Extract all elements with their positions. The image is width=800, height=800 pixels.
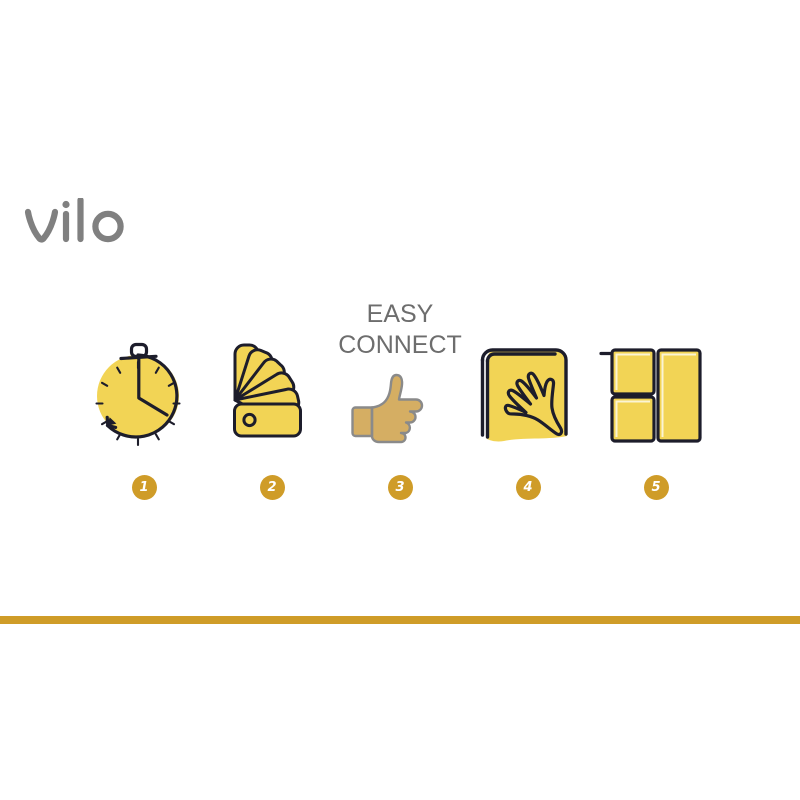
step-artwork xyxy=(208,304,336,454)
step-artwork xyxy=(80,304,208,454)
step-number-badge: 5 xyxy=(644,475,669,500)
stopwatch-timer-icon xyxy=(80,304,208,454)
bottom-gold-rule xyxy=(0,616,800,624)
step-artwork xyxy=(592,304,720,454)
panel-layout-icon xyxy=(592,304,720,454)
step-artwork xyxy=(336,304,464,454)
step-item: EASY CONNECT 3 xyxy=(336,300,464,500)
step-number-badge: 3 xyxy=(388,475,413,500)
step-item: 5 xyxy=(592,300,720,500)
step-item: 2 xyxy=(208,300,336,500)
step-item: 4 xyxy=(464,300,592,500)
thumbs-up-icon xyxy=(336,304,464,454)
color-swatch-fan-icon xyxy=(208,304,336,454)
hand-wiping-panel-icon xyxy=(464,304,592,454)
vilo-logo xyxy=(22,198,132,250)
step-number-badge: 2 xyxy=(260,475,285,500)
step-item: 1 xyxy=(80,300,208,500)
step-artwork xyxy=(464,304,592,454)
steps-row: 1 xyxy=(80,300,720,500)
step-number-badge: 4 xyxy=(516,475,541,500)
slide-canvas: 1 xyxy=(0,0,800,800)
step-number-badge: 1 xyxy=(132,475,157,500)
